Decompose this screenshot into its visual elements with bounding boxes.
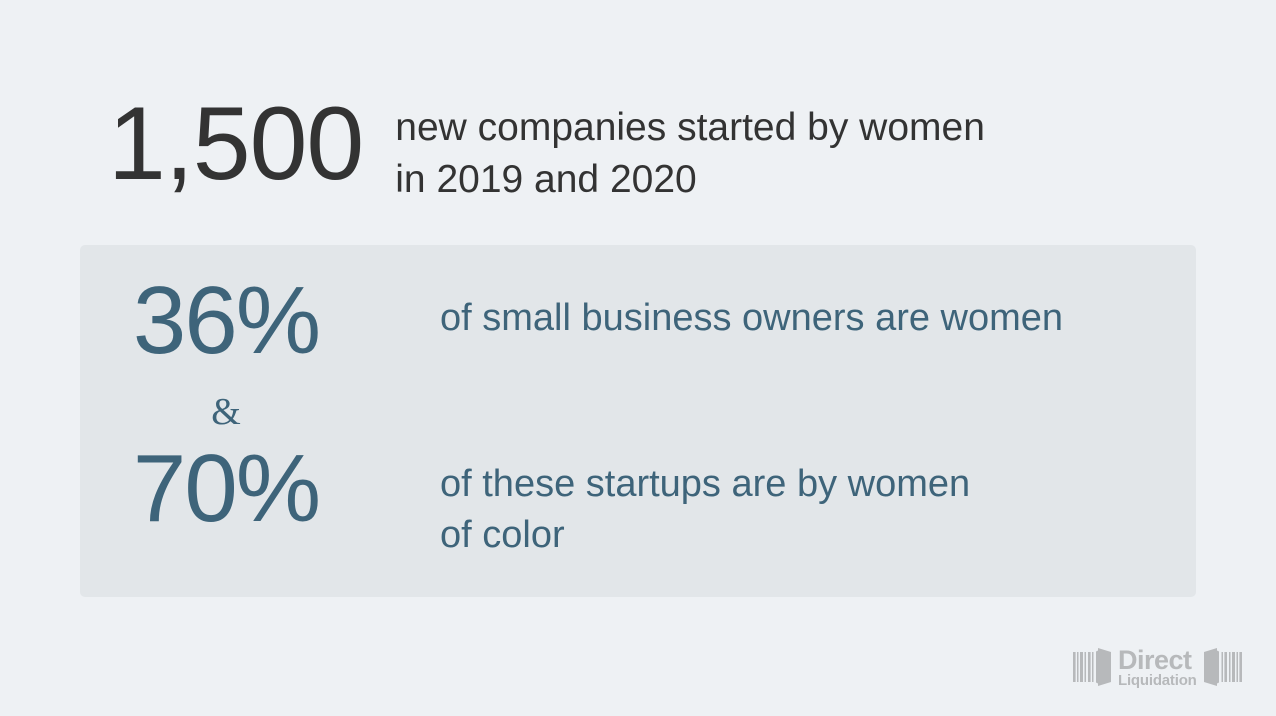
statistic-value-70-percent: 70%: [80, 441, 372, 537]
top-statistic-description: new companies started by women in 2019 a…: [395, 102, 985, 206]
statistic-value-36-percent: 36%: [80, 273, 372, 369]
statistic-value-container-36: 36%: [80, 273, 372, 369]
top-statistic-number: 1,500: [108, 92, 363, 196]
statistic-description-70-percent: of these startups are by women of color: [440, 459, 970, 561]
ampersand-separator: &: [80, 393, 372, 431]
statistic-value-container-70: 70%: [80, 441, 372, 537]
statistic-row-70-percent: 70% of these startups are by women of co…: [80, 441, 970, 561]
top-statistic-description-line-1: new companies started by women: [395, 102, 985, 154]
brand-logo: Direct Liquidation: [1073, 641, 1253, 697]
statistic-description-36-line-1: of small business owners are women: [440, 293, 1063, 344]
statistic-description-70-line-2: of color: [440, 510, 970, 561]
statistics-panel: 36% of small business owners are women &…: [80, 245, 1196, 597]
top-statistic: 1,500 new companies started by women in …: [108, 84, 985, 206]
statistic-description-70-line-1: of these startups are by women: [440, 459, 970, 510]
infographic-canvas: 1,500 new companies started by women in …: [0, 0, 1276, 716]
top-statistic-description-line-2: in 2019 and 2020: [395, 154, 985, 206]
statistic-description-36-percent: of small business owners are women: [440, 293, 1063, 344]
statistic-row-36-percent: 36% of small business owners are women: [80, 273, 1063, 369]
barcode-door-left-icon: [1073, 648, 1115, 691]
barcode-door-right-icon: [1200, 648, 1242, 691]
logo-name-secondary: Liquidation: [1118, 673, 1197, 689]
logo-wordmark: Direct Liquidation: [1118, 648, 1197, 691]
logo-name-primary: Direct: [1118, 648, 1197, 673]
